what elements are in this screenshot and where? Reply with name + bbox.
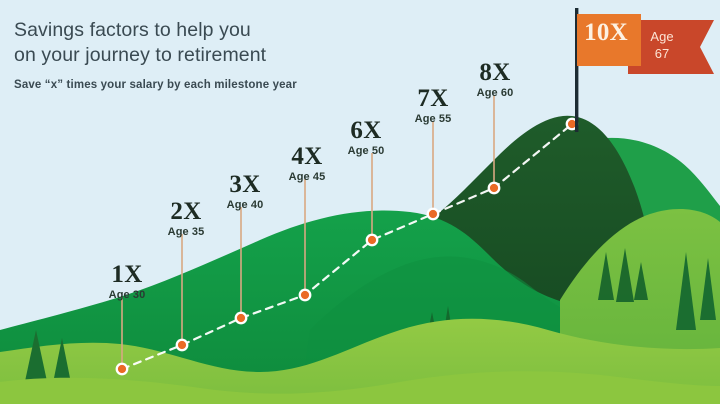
milestone-label-4x: 4XAge 45 (274, 144, 340, 184)
milestone-label-2x: 2XAge 35 (153, 199, 219, 239)
milestone-factor-text: 3X (212, 172, 278, 197)
milestone-dot-3x[interactable] (237, 314, 245, 322)
milestone-label-8x: 8XAge 60 (462, 60, 528, 100)
retirement-flag: 10X Age 67 (568, 6, 718, 136)
milestone-dot-1x[interactable] (118, 365, 126, 373)
retirement-savings-infographic: Savings factors to help you on your jour… (0, 0, 720, 404)
milestone-age-text: Age 45 (274, 170, 340, 184)
flag-age-label: Age 67 (636, 28, 688, 62)
milestone-dot-4x[interactable] (301, 291, 309, 299)
flag-age-word: Age (636, 28, 688, 45)
milestone-factor-text: 1X (94, 262, 160, 287)
milestone-factor-text: 8X (462, 60, 528, 85)
milestone-age-text: Age 50 (333, 144, 399, 158)
milestone-age-text: Age 30 (94, 288, 160, 302)
milestone-dot-7x[interactable] (429, 210, 437, 218)
flag-age-number: 67 (636, 45, 688, 62)
milestone-factor-text: 4X (274, 144, 340, 169)
milestone-label-6x: 6XAge 50 (333, 118, 399, 158)
milestone-dot-2x[interactable] (178, 341, 186, 349)
milestone-factor-text: 6X (333, 118, 399, 143)
milestone-age-text: Age 40 (212, 198, 278, 212)
milestone-age-text: Age 35 (153, 225, 219, 239)
milestone-factor-text: 7X (400, 86, 466, 111)
milestone-age-text: Age 55 (400, 112, 466, 126)
flag-factor-label: 10X (578, 19, 634, 47)
milestone-label-3x: 3XAge 40 (212, 172, 278, 212)
milestone-label-1x: 1XAge 30 (94, 262, 160, 302)
milestone-dot-6x[interactable] (368, 236, 376, 244)
milestone-factor-text: 2X (153, 199, 219, 224)
milestone-age-text: Age 60 (462, 86, 528, 100)
milestone-dot-8x[interactable] (490, 184, 498, 192)
milestone-label-7x: 7XAge 55 (400, 86, 466, 126)
